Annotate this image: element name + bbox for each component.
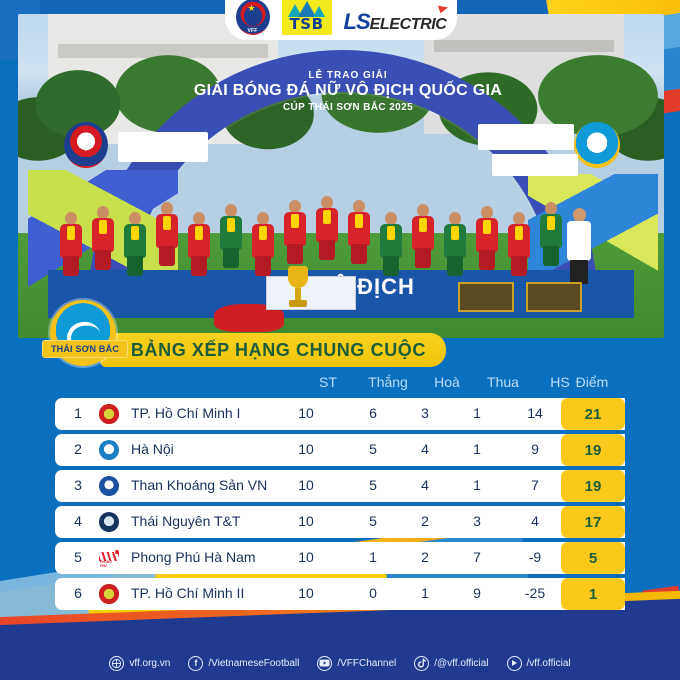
- table-row[interactable]: 3 Than Khoáng Sản VN 10 5 4 1 7 19: [55, 470, 625, 502]
- thang-value: 5: [351, 513, 395, 529]
- footer-social-bar: vff.org.vn f /VietnameseFootball /VFFCha…: [0, 648, 680, 678]
- ls-logo-primary-text: LS: [344, 9, 370, 35]
- vff-logo-icon: ★ VFF: [236, 0, 270, 35]
- photo-board-3: [526, 282, 582, 312]
- table-row[interactable]: 6 TP. Hồ Chí Minh II 10 0 1 9 -25 1: [55, 578, 625, 610]
- thua-value: 1: [455, 477, 499, 493]
- player-figure: [282, 200, 308, 266]
- diem-value: 19: [561, 470, 625, 502]
- table-row[interactable]: 1 TP. Hồ Chí Minh I 10 6 3 1 14 21: [55, 398, 625, 430]
- team-crest-icon: PHONG PHU: [99, 548, 119, 568]
- player-figure: [58, 212, 84, 278]
- footer-label-facebook: /VietnameseFootball: [208, 658, 299, 669]
- thang-value: 0: [351, 585, 395, 601]
- thua-value: 3: [455, 513, 499, 529]
- section-title-banner: BẢNG XẾP HẠNG CHUNG CUỘC: [100, 333, 446, 367]
- table-row[interactable]: 5 PHONG PHU Phong Phú Hà Nam 10 1 2 7 -9…: [55, 542, 625, 574]
- hs-value: 4: [513, 513, 557, 529]
- team-name: Than Khoáng Sản VN: [131, 477, 267, 493]
- player-figure: [538, 202, 564, 268]
- table-body: 1 TP. Hồ Chí Minh I 10 6 3 1 14 21 2 Hà …: [55, 398, 625, 614]
- st-value: 10: [284, 513, 328, 529]
- tsb-logo-text: TSB: [290, 17, 324, 32]
- player-figure: [122, 212, 148, 278]
- facebook-icon: f: [188, 656, 203, 671]
- tsb-logo-icon: TSB: [282, 0, 332, 35]
- player-figure: [346, 200, 372, 266]
- column-header-diem: Điểm: [560, 374, 624, 390]
- diem-value: 21: [561, 398, 625, 430]
- thang-value: 5: [351, 477, 395, 493]
- footer-label-youtube: /VFFChannel: [337, 658, 396, 669]
- player-figure: [154, 202, 180, 268]
- diem-value: 5: [561, 542, 625, 574]
- player-figure: [474, 206, 500, 272]
- thua-value: 1: [455, 405, 499, 421]
- photo-board-2: [458, 282, 514, 312]
- team-crest-icon: [99, 440, 119, 460]
- column-header-st: ST: [306, 374, 350, 390]
- footer-item-facebook[interactable]: f /VietnameseFootball: [188, 656, 299, 671]
- ls-electric-logo-icon: LS ELECTRIC: [344, 9, 447, 35]
- page-title: BẢNG XẾP HẠNG CHUNG CUỘC: [131, 340, 426, 361]
- st-value: 10: [284, 477, 328, 493]
- thua-value: 9: [455, 585, 499, 601]
- team-crest-icon: [99, 584, 119, 604]
- footer-item-tiktok[interactable]: /@vff.official: [414, 656, 488, 671]
- hs-value: -9: [513, 549, 557, 565]
- footer-item-play[interactable]: /vff.official: [507, 656, 571, 671]
- column-header-thua: Thua: [478, 374, 528, 390]
- rank-value: 3: [69, 477, 87, 493]
- ls-logo-secondary-text: ELECTRIC: [370, 16, 447, 34]
- table-row[interactable]: 2 Hà Nội 10 5 4 1 9 19: [55, 434, 625, 466]
- st-value: 10: [284, 405, 328, 421]
- photo-board-1: [266, 276, 356, 310]
- rank-value: 6: [69, 585, 87, 601]
- hs-value: -25: [513, 585, 557, 601]
- standings-table: ST Thắng Hoà Thua HS Điểm 1 TP. Hồ Chí M…: [0, 372, 680, 594]
- hs-value: 9: [513, 441, 557, 457]
- player-figure: [378, 212, 404, 278]
- hoa-value: 4: [403, 441, 447, 457]
- player-figure: [250, 212, 276, 278]
- hoa-value: 4: [403, 477, 447, 493]
- st-value: 10: [284, 585, 328, 601]
- team-crest-icon: [99, 476, 119, 496]
- team-name: TP. Hồ Chí Minh II: [131, 585, 244, 601]
- player-figure: [442, 212, 468, 278]
- team-name: Hà Nội: [131, 441, 174, 457]
- thua-value: 7: [455, 549, 499, 565]
- arch-sponsor-panel-2: [478, 124, 574, 150]
- team-crest-icon: [99, 512, 119, 532]
- table-header-row: ST Thắng Hoà Thua HS Điểm: [0, 372, 680, 396]
- player-figure: [506, 212, 532, 278]
- team-name: TP. Hồ Chí Minh I: [131, 405, 240, 421]
- diem-value: 1: [561, 578, 625, 610]
- globe-icon: [109, 656, 124, 671]
- team-name: Phong Phú Hà Nam: [131, 549, 256, 565]
- table-row[interactable]: 4 Thái Nguyên T&T 10 5 2 3 4 17: [55, 506, 625, 538]
- rank-value: 5: [69, 549, 87, 565]
- player-figure: [314, 196, 340, 262]
- footer-label-play: /vff.official: [527, 658, 571, 669]
- st-value: 10: [284, 441, 328, 457]
- ceremony-photo: LỄ TRAO GIẢI GIẢI BÓNG ĐÁ NỮ VÔ ĐỊCH QUỐ…: [18, 14, 664, 338]
- hoa-value: 2: [403, 549, 447, 565]
- rank-value: 2: [69, 441, 87, 457]
- thai-son-bac-label: THÁI SƠN BẮC: [42, 340, 128, 358]
- tiktok-icon: [414, 656, 429, 671]
- hoa-value: 3: [403, 405, 447, 421]
- footer-label-website: vff.org.vn: [129, 658, 170, 669]
- column-header-thang: Thắng: [360, 374, 416, 390]
- footer-item-youtube[interactable]: /VFFChannel: [317, 656, 396, 671]
- header-logo-panel: ★ VFF TSB LS ELECTRIC: [225, 0, 457, 40]
- hoa-value: 1: [403, 585, 447, 601]
- rank-value: 4: [69, 513, 87, 529]
- player-figure: [90, 206, 116, 272]
- thua-value: 1: [455, 441, 499, 457]
- photo-team-players: [58, 158, 618, 278]
- diem-value: 17: [561, 506, 625, 538]
- footer-item-website[interactable]: vff.org.vn: [109, 656, 170, 671]
- hs-value: 7: [513, 477, 557, 493]
- team-crest-icon: [99, 404, 119, 424]
- hs-value: 14: [513, 405, 557, 421]
- trophy: [286, 266, 310, 310]
- thang-value: 6: [351, 405, 395, 421]
- st-value: 10: [284, 549, 328, 565]
- player-figure: [410, 204, 436, 270]
- official-figure: [564, 208, 594, 286]
- team-name: Thái Nguyên T&T: [131, 513, 240, 529]
- diem-value: 19: [561, 434, 625, 466]
- hoa-value: 2: [403, 513, 447, 529]
- player-figure: [218, 204, 244, 270]
- rank-value: 1: [69, 405, 87, 421]
- column-header-hoa: Hoà: [425, 374, 469, 390]
- play-icon: [507, 656, 522, 671]
- player-figure: [186, 212, 212, 278]
- vff-logo-text: VFF: [236, 28, 270, 34]
- thang-value: 5: [351, 441, 395, 457]
- poster-canvas: LỄ TRAO GIẢI GIẢI BÓNG ĐÁ NỮ VÔ ĐỊCH QUỐ…: [0, 0, 680, 680]
- youtube-icon: [317, 656, 332, 671]
- thang-value: 1: [351, 549, 395, 565]
- footer-label-tiktok: /@vff.official: [434, 658, 488, 669]
